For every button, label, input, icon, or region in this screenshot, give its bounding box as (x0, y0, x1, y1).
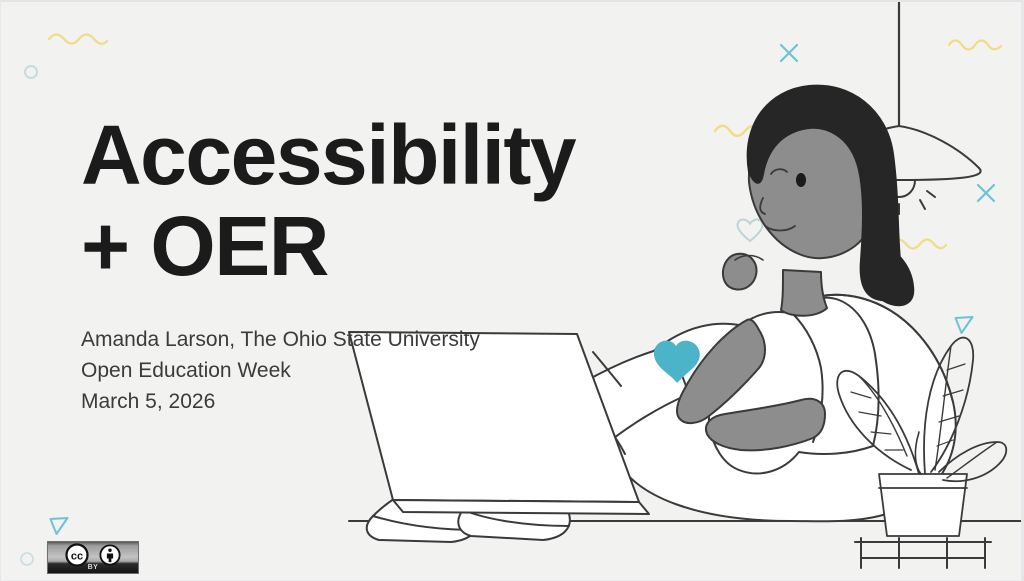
squiggle-top-left (48, 32, 108, 46)
event-line: Open Education Week (81, 355, 641, 386)
subtitle-block: Amanda Larson, The Ohio State University… (81, 324, 641, 417)
presenter-line: Amanda Larson, The Ohio State University (81, 324, 641, 355)
svg-text:cc: cc (71, 551, 83, 563)
illustration-woman-on-beanbag (331, 2, 1024, 581)
date-line: March 5, 2026 (81, 386, 641, 417)
circle-bottom-left (19, 551, 35, 567)
circle-top-left (23, 64, 39, 80)
cc-by-label: BY (48, 564, 138, 572)
triangle-bottom-left (48, 515, 70, 537)
attribution-person-icon (99, 544, 121, 566)
title-block: Accessibility + OER (81, 110, 641, 291)
title-slide: Accessibility + OER Amanda Larson, The O… (0, 0, 1024, 581)
cc-license-badge[interactable]: cc BY (47, 541, 139, 574)
page-title: Accessibility + OER (81, 110, 641, 291)
